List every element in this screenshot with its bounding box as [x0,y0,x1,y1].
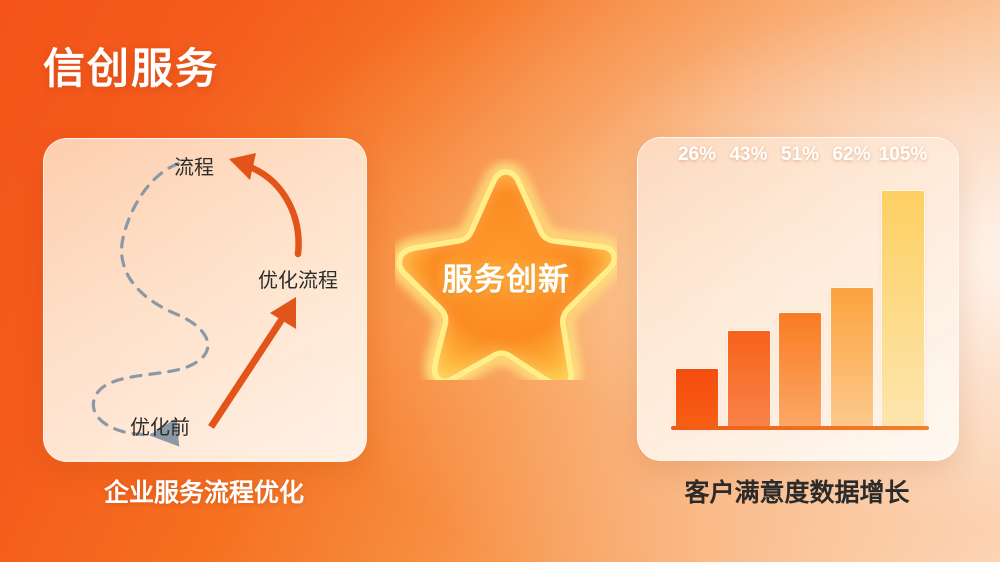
bar-rect [779,313,821,427]
right-card-caption: 客户满意度数据增长 [637,473,957,509]
growth-chart-card: 26%43%51%62%105% [637,137,959,461]
bar-column: 105% [882,169,924,427]
bar-rect [676,369,718,427]
label-optimized-process: 优化流程 [258,264,338,293]
left-card-caption: 企业服务流程优化 [43,473,365,509]
page-title: 信创服务 [43,35,219,96]
straight-orange-arrow [211,297,296,427]
curved-orange-arrow [229,153,299,254]
bar-value-label: 105% [879,144,928,166]
bar-value-label: 51% [781,144,819,166]
badge-label: 服务创新 [395,254,617,299]
bar-column: 62% [831,169,873,427]
bar-rect [882,191,924,427]
bar-chart: 26%43%51%62%105% [638,138,958,460]
slide-canvas: 信创服务 流程 优化流程 优化前 企业服务流程优化 [0,0,1000,562]
bar-column: 43% [728,169,770,427]
bar-rect [831,288,873,427]
bar-column: 26% [676,169,718,427]
bar-value-label: 62% [832,144,870,166]
bar-series: 26%43%51%62%105% [676,169,924,427]
service-innovation-badge: 服务创新 [395,158,617,380]
bar-rect [728,331,770,427]
bar-value-label: 26% [678,144,716,166]
dashed-s-curve [93,162,208,435]
label-before-optimization: 优化前 [130,411,190,440]
label-process: 流程 [174,151,214,180]
chart-baseline [671,426,929,430]
bar-value-label: 43% [729,144,767,166]
bar-column: 51% [779,169,821,427]
process-flow-card: 流程 优化流程 优化前 [43,138,367,462]
process-flow-diagram [44,139,366,461]
